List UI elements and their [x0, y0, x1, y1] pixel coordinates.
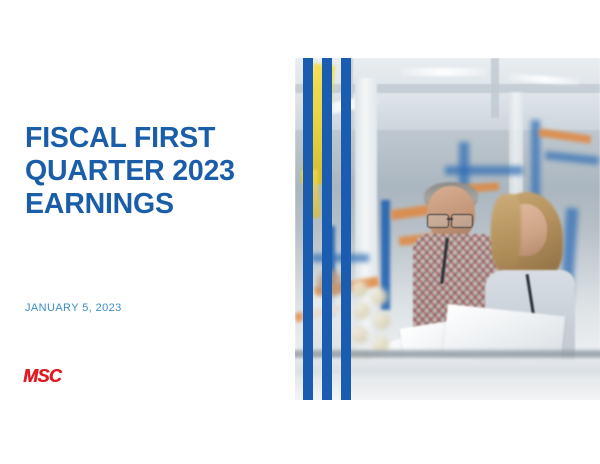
- sphere: [353, 302, 370, 319]
- photo-scene: [295, 58, 600, 400]
- sphere: [373, 312, 390, 329]
- sphere: [371, 288, 388, 305]
- blue-racking: [311, 254, 369, 262]
- ceiling-light: [401, 68, 487, 76]
- msc-logo: MSC: [23, 366, 81, 388]
- title-slide: FISCAL FIRST QUARTER 2023 EARNINGS JANUA…: [0, 0, 600, 464]
- glasses-bridge: [447, 218, 453, 220]
- ceiling-beam: [343, 58, 353, 130]
- blue-racking: [445, 166, 523, 175]
- ceiling-beam: [295, 84, 600, 93]
- yellow-hoist-beam: [301, 170, 320, 219]
- msc-logo-wordmark: MSC: [23, 366, 61, 386]
- page-title: FISCAL FIRST QUARTER 2023 EARNINGS: [25, 122, 280, 221]
- warehouse-photo: [295, 58, 600, 400]
- title-line-2: QUARTER 2023: [25, 155, 280, 188]
- glasses-icon: [451, 214, 473, 228]
- title-line-1: FISCAL FIRST: [25, 122, 280, 155]
- ceiling-beam: [491, 58, 499, 118]
- sphere: [351, 280, 368, 297]
- glasses-icon: [427, 214, 449, 228]
- left-text-panel: FISCAL FIRST QUARTER 2023 EARNINGS JANUA…: [0, 0, 295, 464]
- man-head: [427, 186, 475, 240]
- slide-date: JANUARY 5, 2023: [25, 298, 122, 316]
- title-line-3: EARNINGS: [25, 188, 280, 221]
- woman-hair-front: [491, 194, 521, 266]
- foreground-blur-haze: [295, 374, 600, 400]
- date-text: JANUARY 5, 2023: [25, 302, 122, 314]
- sphere: [351, 326, 368, 343]
